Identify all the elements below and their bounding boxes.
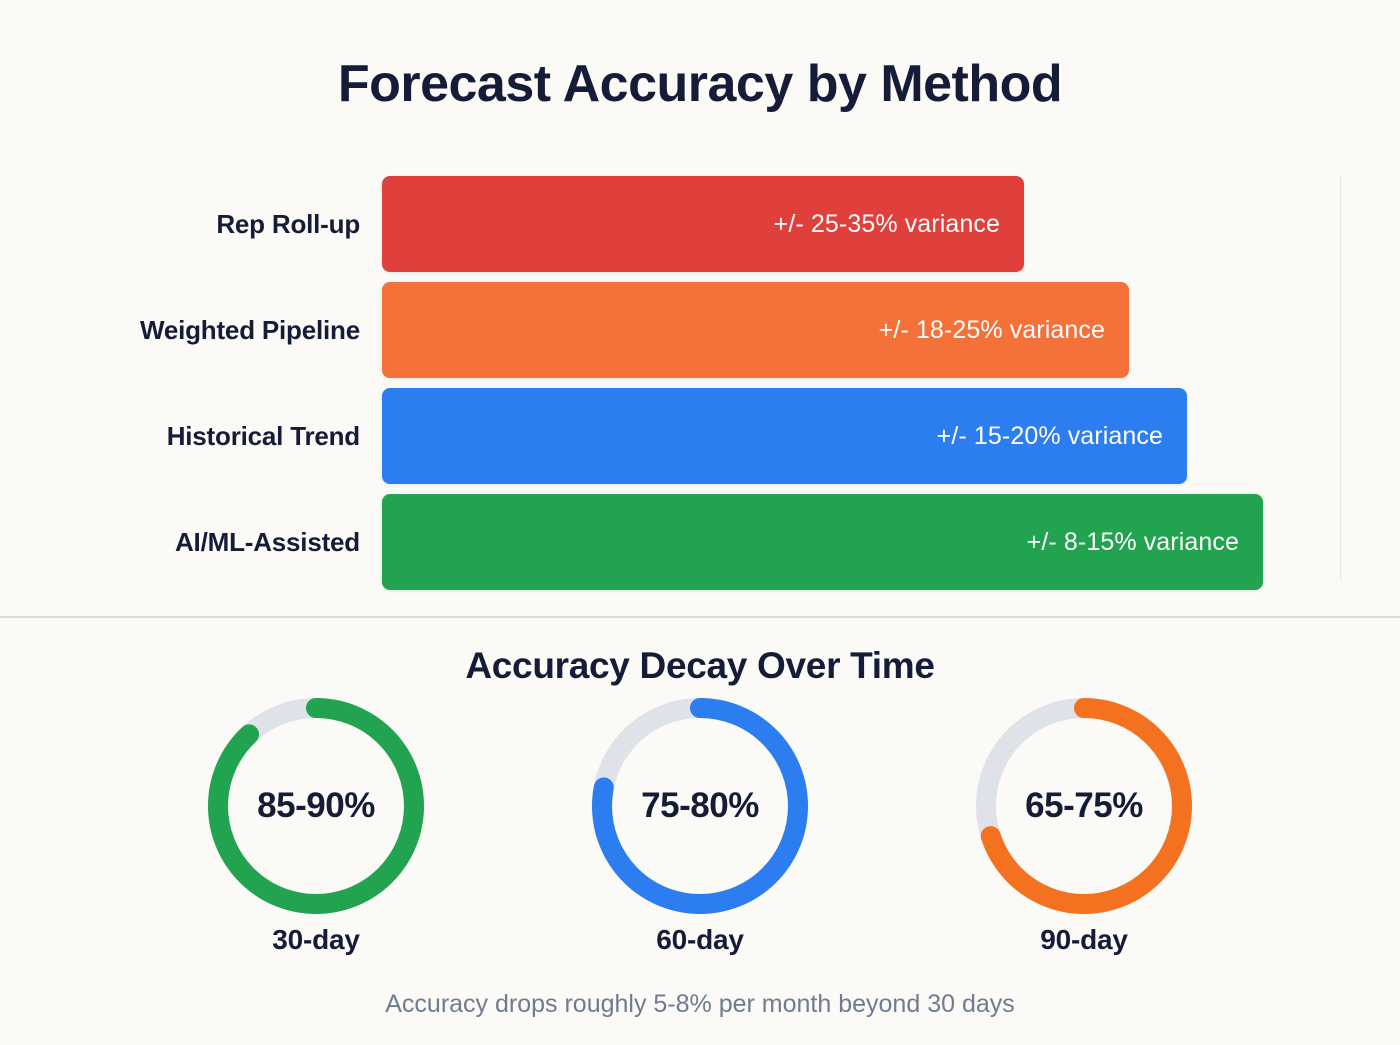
donut-ring-wrap: 85-90%	[208, 698, 424, 914]
donut-gauge-30-day[interactable]: 85-90% 30-day	[186, 698, 446, 968]
decay-footnote: Accuracy drops roughly 5-8% per month be…	[0, 990, 1400, 1019]
bar-category-label: AI/ML-Assisted	[0, 494, 360, 590]
accuracy-decay-section: Accuracy Decay Over Time 85-90% 30-day 7…	[0, 618, 1400, 1045]
bar-track: +/- 8-15% variance	[382, 494, 1263, 590]
donut-ring-wrap: 75-80%	[592, 698, 808, 914]
bar-value-label: +/- 15-20% variance	[937, 422, 1163, 451]
donut-gauge-60-day[interactable]: 75-80% 60-day	[570, 698, 830, 968]
bar-fill-rep-roll-up[interactable]: +/- 25-35% variance	[382, 176, 1024, 272]
bar-row: Rep Roll-up +/- 25-35% variance	[0, 176, 1400, 272]
bar-row: AI/ML-Assisted +/- 8-15% variance	[0, 494, 1400, 590]
bar-fill-ai-ml-assisted[interactable]: +/- 8-15% variance	[382, 494, 1263, 590]
bar-row: Weighted Pipeline +/- 18-25% variance	[0, 282, 1400, 378]
donut-gauge-row: 85-90% 30-day 75-80% 60-day 65-75%	[0, 698, 1400, 968]
bar-track: +/- 25-35% variance	[382, 176, 1024, 272]
bar-value-label: +/- 25-35% variance	[774, 210, 1000, 239]
donut-category-label: 30-day	[186, 924, 446, 956]
bar-category-label: Historical Trend	[0, 388, 360, 484]
chart-axis-line	[1340, 176, 1341, 580]
bar-track: +/- 15-20% variance	[382, 388, 1187, 484]
bar-fill-weighted-pipeline[interactable]: +/- 18-25% variance	[382, 282, 1129, 378]
section-title: Accuracy Decay Over Time	[0, 645, 1400, 687]
bar-row: Historical Trend +/- 15-20% variance	[0, 388, 1400, 484]
bar-value-label: +/- 18-25% variance	[879, 316, 1105, 345]
bar-category-label: Weighted Pipeline	[0, 282, 360, 378]
donut-value-label: 85-90%	[208, 698, 424, 914]
bar-chart-plot-area: Rep Roll-up +/- 25-35% variance Weighted…	[0, 176, 1400, 576]
donut-value-label: 65-75%	[976, 698, 1192, 914]
bar-track: +/- 18-25% variance	[382, 282, 1129, 378]
bar-category-label: Rep Roll-up	[0, 176, 360, 272]
donut-category-label: 60-day	[570, 924, 830, 956]
bar-fill-historical-trend[interactable]: +/- 15-20% variance	[382, 388, 1187, 484]
donut-category-label: 90-day	[954, 924, 1214, 956]
forecast-accuracy-chart-section: Forecast Accuracy by Method Rep Roll-up …	[0, 0, 1400, 617]
donut-gauge-90-day[interactable]: 65-75% 90-day	[954, 698, 1214, 968]
donut-ring-wrap: 65-75%	[976, 698, 1192, 914]
page-title: Forecast Accuracy by Method	[0, 56, 1400, 113]
bar-value-label: +/- 8-15% variance	[1027, 528, 1239, 557]
donut-value-label: 75-80%	[592, 698, 808, 914]
